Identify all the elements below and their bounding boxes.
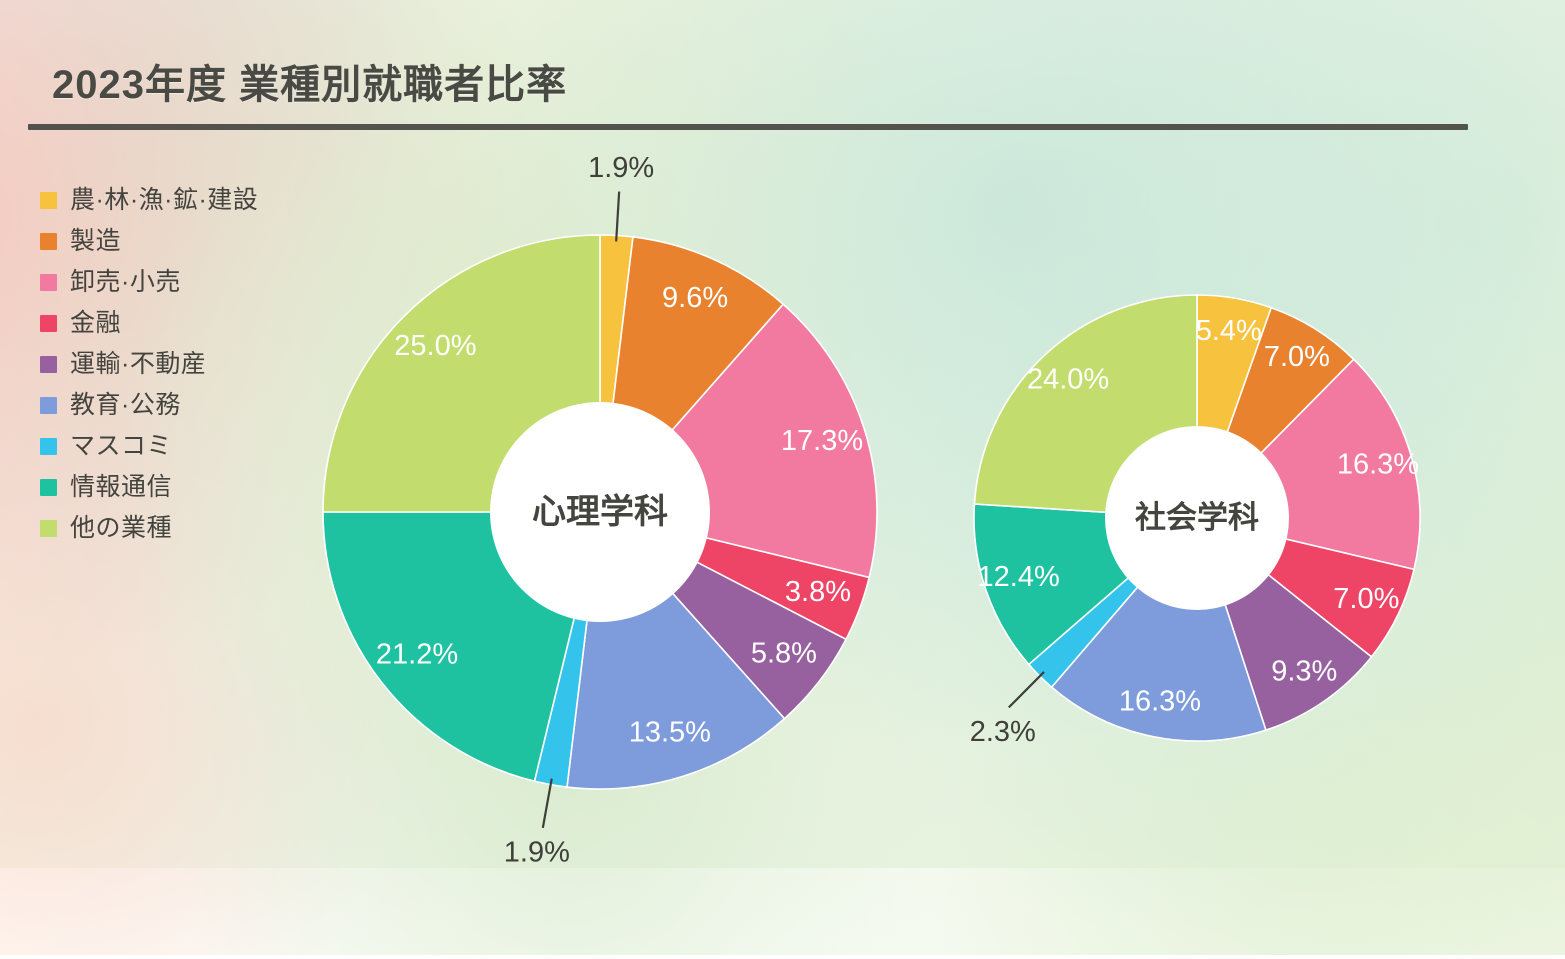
slice-value-label: 13.5% bbox=[629, 717, 711, 749]
slice-value-label: 25.0% bbox=[394, 330, 476, 362]
donut-center-label: 社会学科 bbox=[1135, 500, 1259, 535]
slice-value-label: 9.3% bbox=[1271, 655, 1337, 687]
leader-line bbox=[1009, 672, 1044, 707]
slice-value-label: 16.3% bbox=[1337, 449, 1419, 481]
leader-line bbox=[543, 779, 552, 828]
donut-chart-2: 社会学科5.4%7.0%16.3%7.0%9.3%16.3%2.3%12.4%2… bbox=[804, 125, 1565, 911]
slice-value-label: 16.3% bbox=[1119, 685, 1201, 717]
slice-value-label: 1.9% bbox=[504, 837, 570, 869]
slice-value-label: 7.0% bbox=[1264, 341, 1330, 373]
slice-value-label: 5.4% bbox=[1196, 315, 1262, 347]
slice-value-label: 9.6% bbox=[662, 282, 728, 314]
slice-value-label: 21.2% bbox=[376, 638, 458, 670]
slice-value-label: 7.0% bbox=[1333, 583, 1399, 615]
leader-line bbox=[616, 192, 619, 242]
slice-value-label: 24.0% bbox=[1027, 363, 1109, 395]
slice-value-label: 2.3% bbox=[970, 716, 1036, 748]
donut-charts-container: 心理学科1.9%9.6%17.3%3.8%5.8%13.5%1.9%21.2%2… bbox=[0, 0, 1565, 868]
slice-value-label: 12.4% bbox=[978, 561, 1060, 593]
donut-center-label: 心理学科 bbox=[532, 492, 668, 531]
slice-value-label: 1.9% bbox=[588, 152, 654, 184]
